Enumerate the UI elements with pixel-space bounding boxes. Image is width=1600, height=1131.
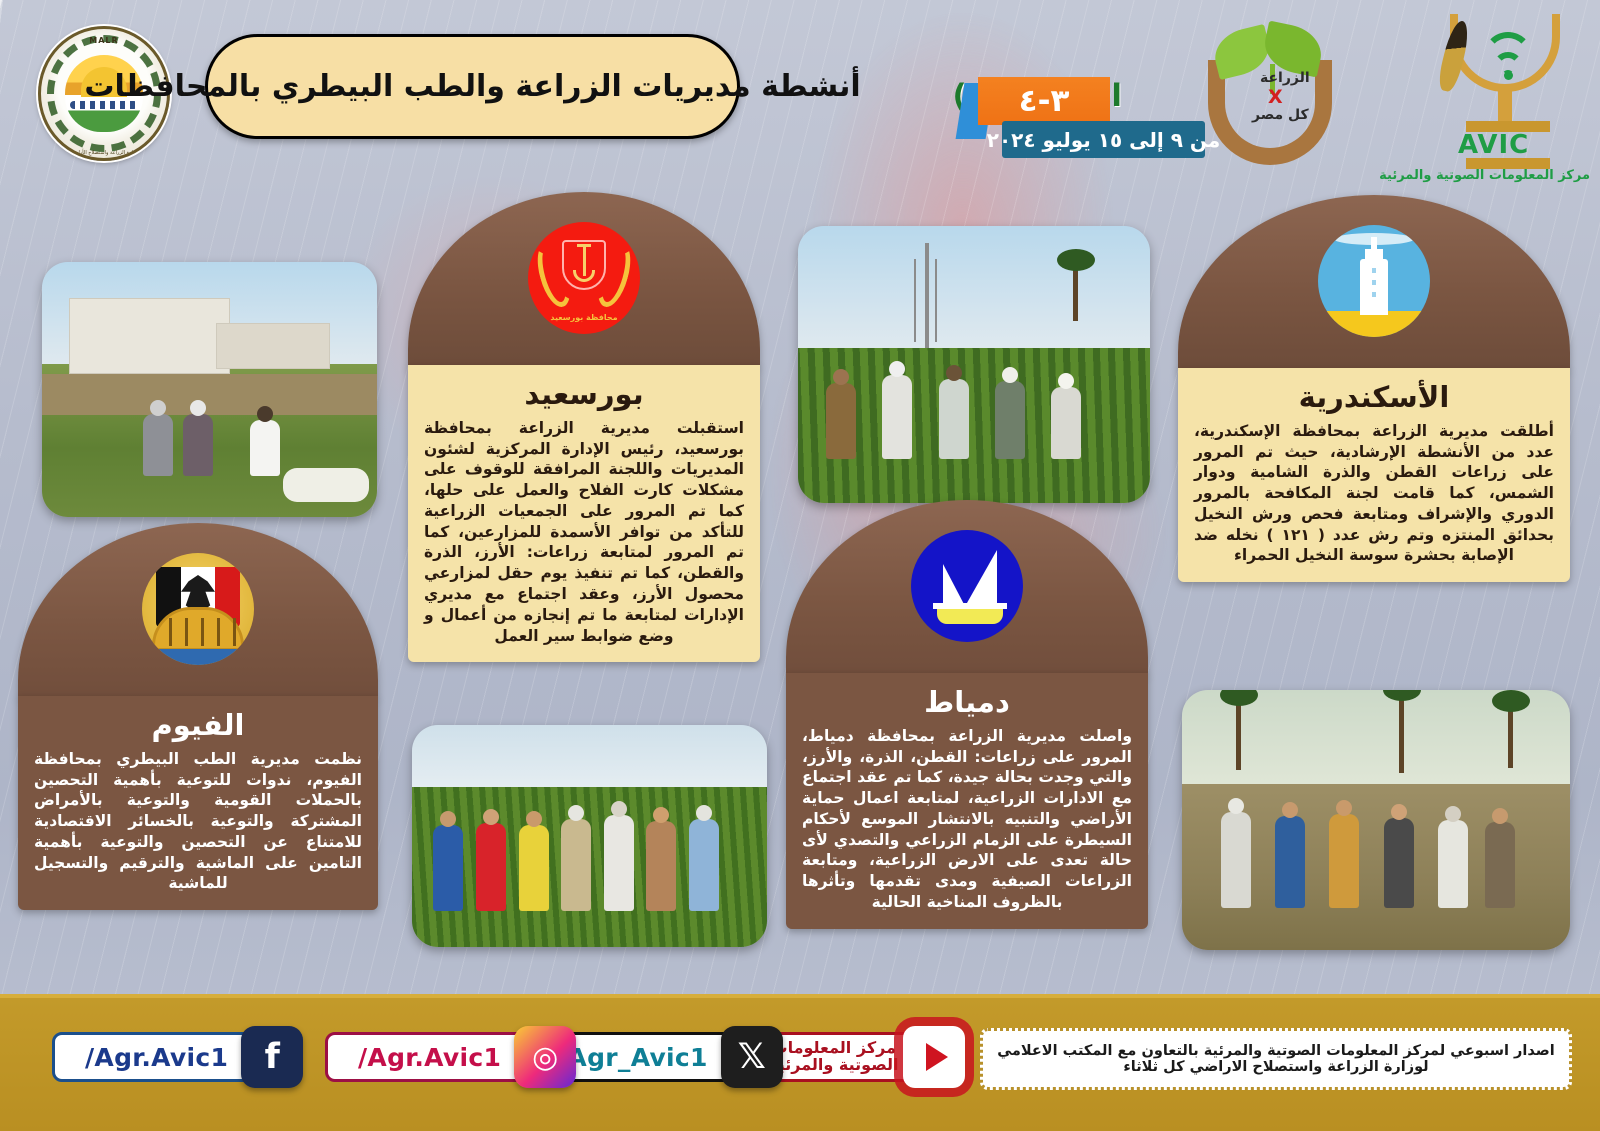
card-title-portsaid: بورسعيد: [424, 379, 744, 411]
card-arch-portsaid: محافظة بورسعيد: [408, 192, 760, 367]
card-alexandria[interactable]: الأسكندرية أطلقت مديرية الزراعة بمحافظة …: [1178, 195, 1570, 582]
card-text-alexandria: أطلقت مديرية الزراعة بمحافظة الإسكندرية،…: [1194, 421, 1554, 566]
zeraa-kol-masr-logo: الزراعة X كل مصر: [1190, 12, 1355, 172]
issue-badge-group: ٣-٤ من ٩ إلى ١٥ يوليو ٢٠٢٤: [960, 75, 1205, 160]
zeraa-logo-line1: الزراعة: [1260, 70, 1310, 86]
card-arch-alexandria: [1178, 195, 1570, 370]
instagram-icon: ◎: [514, 1026, 576, 1088]
broadcast-icon: [1470, 22, 1546, 82]
issue-number-badge: ٣-٤: [978, 77, 1110, 125]
zeraa-logo-x: X: [1268, 86, 1283, 108]
alexandria-lighthouse-emblem-icon: [1318, 225, 1430, 337]
card-body-damietta: دمياط واصلت مديرية الزراعة بمحافظة دمياط…: [786, 673, 1148, 929]
damietta-sailboat-emblem-icon: [911, 530, 1023, 642]
emblem-caption: محافظة بورسعيد: [528, 313, 640, 322]
fayoum-waterwheel-emblem-icon: [142, 553, 254, 665]
card-text-portsaid: استقبلت مديرية الزراعة بمحافظة بورسعيد، …: [424, 418, 744, 646]
social-link-facebook[interactable]: f /Agr.Avic1: [52, 1026, 303, 1088]
social-link-youtube[interactable]: مركز المعلومات الصوتية والمرئية: [752, 1026, 965, 1088]
malr-logo-caption: وزارة الزراعة واستصلاح الأراضي: [41, 150, 167, 156]
page-title: أنشطة مديريات الزراعة والطب البيطري بالم…: [205, 34, 740, 139]
card-title-damietta: دمياط: [802, 687, 1132, 719]
avic-subtitle: مركز المعلومات الصوتية والمرئية: [1408, 168, 1590, 183]
card-damietta[interactable]: دمياط واصلت مديرية الزراعة بمحافظة دمياط…: [786, 500, 1148, 929]
card-title-alexandria: الأسكندرية: [1194, 382, 1554, 414]
issue-number-text: ٣-٤: [1019, 83, 1070, 119]
card-title-fayoum: الفيوم: [34, 710, 362, 742]
date-range-text: من ٩ إلى ١٥ يوليو ٢٠٢٤: [987, 128, 1221, 152]
footer-note: اصدار اسبوعي لمركز المعلومات الصوتية وال…: [980, 1028, 1572, 1090]
card-text-damietta: واصلت مديرية الزراعة بمحافظة دمياط، المر…: [802, 726, 1132, 913]
social-link-instagram[interactable]: ◎ /Agr.Avic1: [325, 1026, 576, 1088]
card-fayoum[interactable]: الفيوم نظمت مديرية الطب البيطري بمحافظة …: [18, 523, 378, 910]
portsaid-anchor-emblem-icon: محافظة بورسعيد: [528, 222, 640, 334]
date-range-badge: من ٩ إلى ١٥ يوليو ٢٠٢٤: [1002, 121, 1205, 158]
avic-name: AVIC: [1458, 130, 1529, 160]
x-icon: 𝕏: [721, 1026, 783, 1088]
footer: f /Agr.Avic1 ◎ /Agr.Avic1 𝕏 /Agr_Avic1 م…: [0, 994, 1600, 1131]
card-arch-fayoum: [18, 523, 378, 698]
facebook-handle: /Agr.Avic1: [52, 1032, 253, 1082]
malr-logo-top-text: MALR: [41, 36, 167, 45]
page-title-text: أنشطة مديريات الزراعة والطب البيطري بالم…: [84, 69, 860, 104]
card-body-portsaid: بورسعيد استقبلت مديرية الزراعة بمحافظة ب…: [408, 365, 760, 662]
photo-damietta: [1182, 690, 1570, 950]
header: MALR وزارة الزراعة واستصلاح الأراضي أنشط…: [0, 0, 1600, 185]
instagram-handle: /Agr.Avic1: [325, 1032, 526, 1082]
card-body-alexandria: الأسكندرية أطلقت مديرية الزراعة بمحافظة …: [1178, 368, 1570, 582]
facebook-icon: f: [241, 1026, 303, 1088]
avic-logo: AVIC مركز المعلومات الصوتية والمرئية: [1408, 8, 1590, 178]
card-portsaid[interactable]: محافظة بورسعيد بورسعيد استقبلت مديرية ال…: [408, 192, 760, 662]
card-body-fayoum: الفيوم نظمت مديرية الطب البيطري بمحافظة …: [18, 696, 378, 910]
card-text-fayoum: نظمت مديرية الطب البيطري بمحافظة الفيوم،…: [34, 749, 362, 894]
photo-alexandria: [798, 226, 1150, 503]
photo-portsaid: [412, 725, 767, 947]
photo-fayoum: [42, 262, 377, 517]
card-arch-damietta: [786, 500, 1148, 675]
zeraa-logo-line2: كل مصر: [1252, 107, 1309, 123]
youtube-icon: [903, 1026, 965, 1088]
youtube-handle-line2: الصوتية والمرئية: [769, 1057, 898, 1074]
